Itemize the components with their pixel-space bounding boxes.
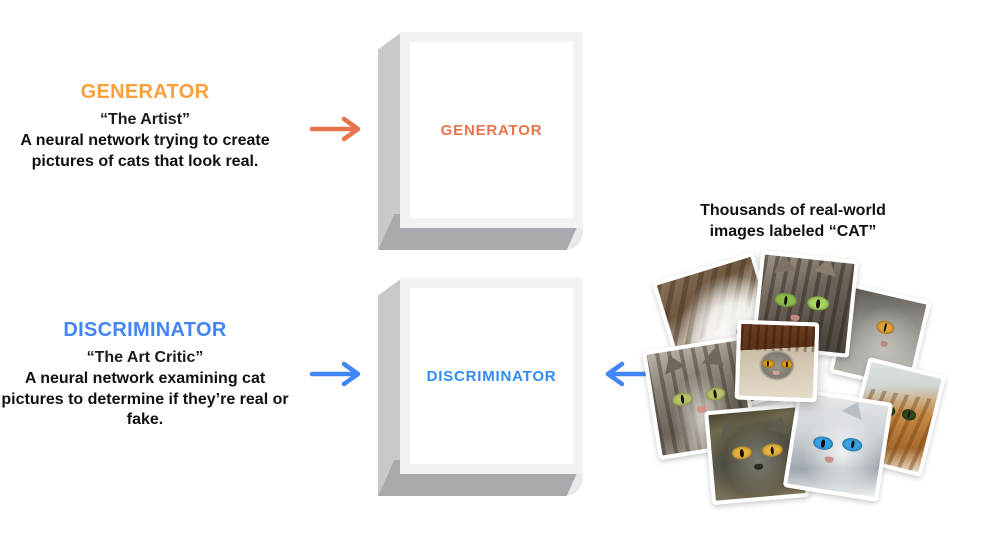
gan-diagram: GENERATOR “The Artist” A neural network … (0, 0, 982, 549)
dataset-caption: Thousands of real-world images labeled “… (668, 201, 918, 243)
generator-description-block: GENERATOR “The Artist” A neural network … (0, 80, 290, 172)
generator-box-front-face: GENERATOR (400, 32, 583, 228)
generator-heading: GENERATOR (0, 80, 290, 106)
discriminator-box-label: DISCRIMINATOR (427, 368, 557, 385)
discriminator-heading: DISCRIMINATOR (0, 318, 290, 344)
discriminator-nickname: “The Art Critic” (0, 348, 290, 368)
generator-description: A neural network trying to create pictur… (0, 131, 290, 172)
arrow-right-generator-icon (308, 112, 368, 146)
dataset-caption-line-2: images labeled “CAT” (668, 222, 918, 243)
generator-box-inner-panel: GENERATOR (410, 42, 573, 218)
discriminator-description-block: DISCRIMINATOR “The Art Critic” A neural … (0, 318, 290, 430)
cat-photo-cat-under-blanket (735, 320, 820, 403)
generator-box-label: GENERATOR (441, 122, 543, 139)
discriminator-box-inner-panel: DISCRIMINATOR (410, 288, 573, 464)
discriminator-box-front-face: DISCRIMINATOR (400, 278, 583, 474)
generator-nickname: “The Artist” (0, 110, 290, 130)
cat-photo-collage (650, 255, 900, 505)
generator-box: GENERATOR (378, 32, 583, 250)
cat-photo-image (739, 324, 815, 399)
discriminator-description: A neural network examining cat pictures … (0, 369, 290, 430)
dataset-caption-line-1: Thousands of real-world (668, 201, 918, 222)
cat-photo-image (787, 393, 888, 498)
arrow-right-discriminator-icon (308, 357, 368, 391)
discriminator-box: DISCRIMINATOR (378, 278, 583, 496)
cat-photo-blue-eyed-ragdoll-cat (783, 388, 893, 502)
